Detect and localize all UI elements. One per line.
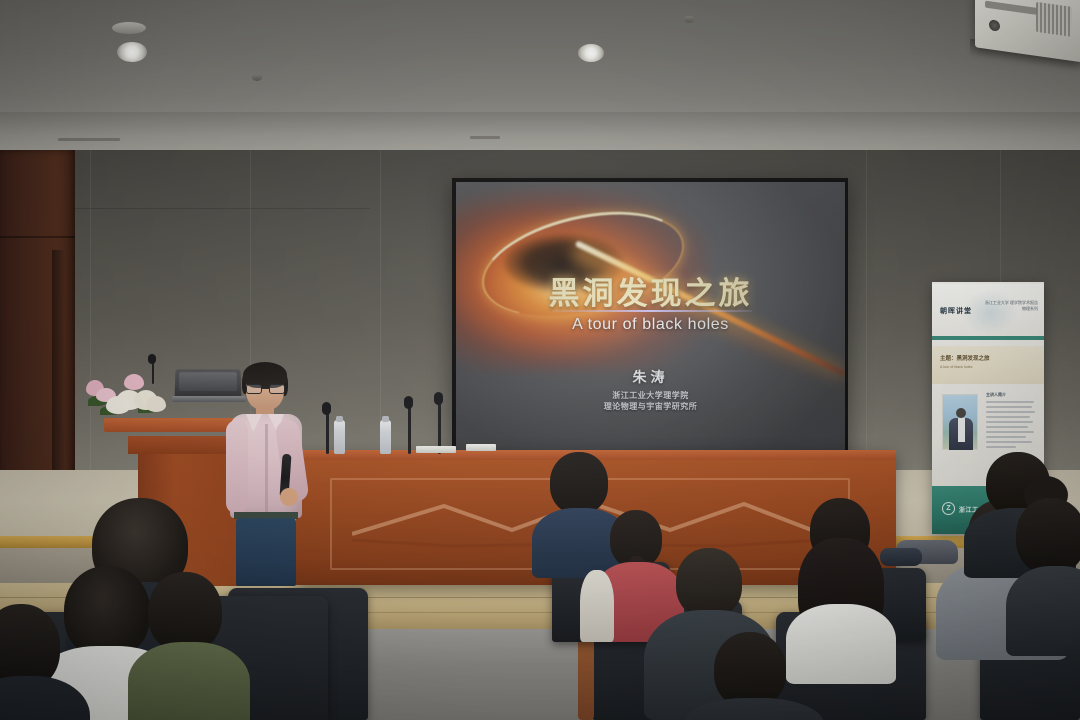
text-line (986, 421, 1033, 423)
bottle-cap (336, 416, 343, 422)
water-bottle (334, 420, 345, 454)
banner-header-subtitle: 浙江工业大学 理学院学术报告 物理系列 (982, 300, 1038, 312)
attendee-shoulders (1006, 566, 1080, 656)
ceiling-vent-slot (58, 138, 120, 141)
projector-slot (985, 1, 1037, 15)
slide-affiliation-line1: 浙江工业大学理学院 (456, 390, 845, 401)
lecture-hall-scene: 黑洞发现之旅 A tour of black holes 朱涛 浙江工业大学理学… (0, 0, 1080, 720)
attendee-shoulders (128, 642, 250, 720)
presenter-arm-left (226, 420, 248, 514)
table-nameplate (466, 444, 496, 451)
ceiling-vent-slot (470, 136, 500, 139)
bag-on-table (880, 548, 922, 566)
projection-screen: 黑洞发现之旅 A tour of black holes 朱涛 浙江工业大学理学… (452, 178, 848, 478)
shirt-placket (265, 424, 268, 516)
presenter-trousers (236, 518, 296, 586)
attendee-shoulders (786, 604, 896, 684)
slide-divider (552, 310, 752, 312)
banner-topic-label: 主题：黑洞发现之旅 (940, 354, 990, 362)
flower-petal (146, 396, 166, 412)
microphone-head-icon (404, 396, 413, 409)
text-line (986, 411, 1035, 413)
slide-title: 黑洞发现之旅 (456, 268, 845, 313)
attendee-head (676, 548, 742, 618)
banner-topic-bar: 主题：黑洞发现之旅 A tour of black holes (932, 346, 1044, 384)
presenter (222, 362, 310, 586)
downlight-rim (112, 22, 146, 34)
recessed-downlight (578, 44, 604, 62)
flower-arrangement (86, 362, 172, 420)
text-line (986, 416, 1030, 418)
slide-affiliation-line2: 理论物理与宇宙学研究所 (456, 401, 845, 412)
banner-header: 朝晖讲堂 浙江工业大学 理学院学术报告 物理系列 (932, 284, 1044, 340)
text-line (986, 446, 1016, 448)
flower-petal (124, 374, 144, 390)
table-microphone (408, 404, 411, 454)
banner-header-title: 朝晖讲堂 (940, 306, 972, 316)
screen-surface: 黑洞发现之旅 A tour of black holes 朱涛 浙江工业大学理学… (456, 182, 845, 473)
text-line (986, 401, 1034, 403)
slide-subtitle: A tour of black holes (456, 316, 845, 334)
attendee-sleeve (580, 570, 614, 642)
text-line (986, 436, 1026, 438)
banner-bio-heading: 主讲人简介 (986, 392, 1036, 398)
recessed-downlight (117, 42, 147, 62)
university-logo-icon: Z (942, 502, 955, 515)
slide-speaker-name: 朱涛 (456, 367, 845, 387)
projector-lens-icon (989, 19, 1000, 32)
fire-sprinkler (252, 74, 262, 81)
wall-joint-line (60, 208, 370, 209)
microphone-head-icon (322, 402, 331, 415)
eyeglasses-icon (246, 384, 285, 394)
banner-portrait (942, 394, 978, 450)
attendee-head (1016, 498, 1080, 574)
text-line (986, 431, 1034, 433)
attendee-head (550, 452, 608, 514)
fire-sprinkler (684, 16, 694, 23)
attendee-head (64, 566, 150, 658)
seat-armrest (578, 636, 594, 720)
banner-bio-block: 主讲人简介 (986, 392, 1036, 451)
attendee-head (714, 632, 786, 708)
portrait-shirt (958, 418, 965, 442)
text-line (986, 441, 1032, 443)
text-line (986, 406, 1032, 408)
water-bottle (380, 420, 391, 454)
microphone-head-icon (434, 392, 443, 405)
microphone-head-icon (148, 354, 156, 364)
bottle-cap (382, 416, 389, 422)
attendee-head (148, 572, 222, 652)
table-nameplate (416, 446, 456, 453)
table-microphone (326, 410, 329, 454)
text-line (986, 426, 1028, 428)
slide-affiliation: 浙江工业大学理学院 理论物理与宇宙学研究所 (456, 390, 845, 412)
banner-topic-sub-en: A tour of black holes (940, 365, 972, 371)
projector-vent (1036, 2, 1072, 37)
flower-petal (106, 396, 130, 414)
portrait-head (956, 408, 966, 418)
presenter-hand (280, 488, 298, 506)
